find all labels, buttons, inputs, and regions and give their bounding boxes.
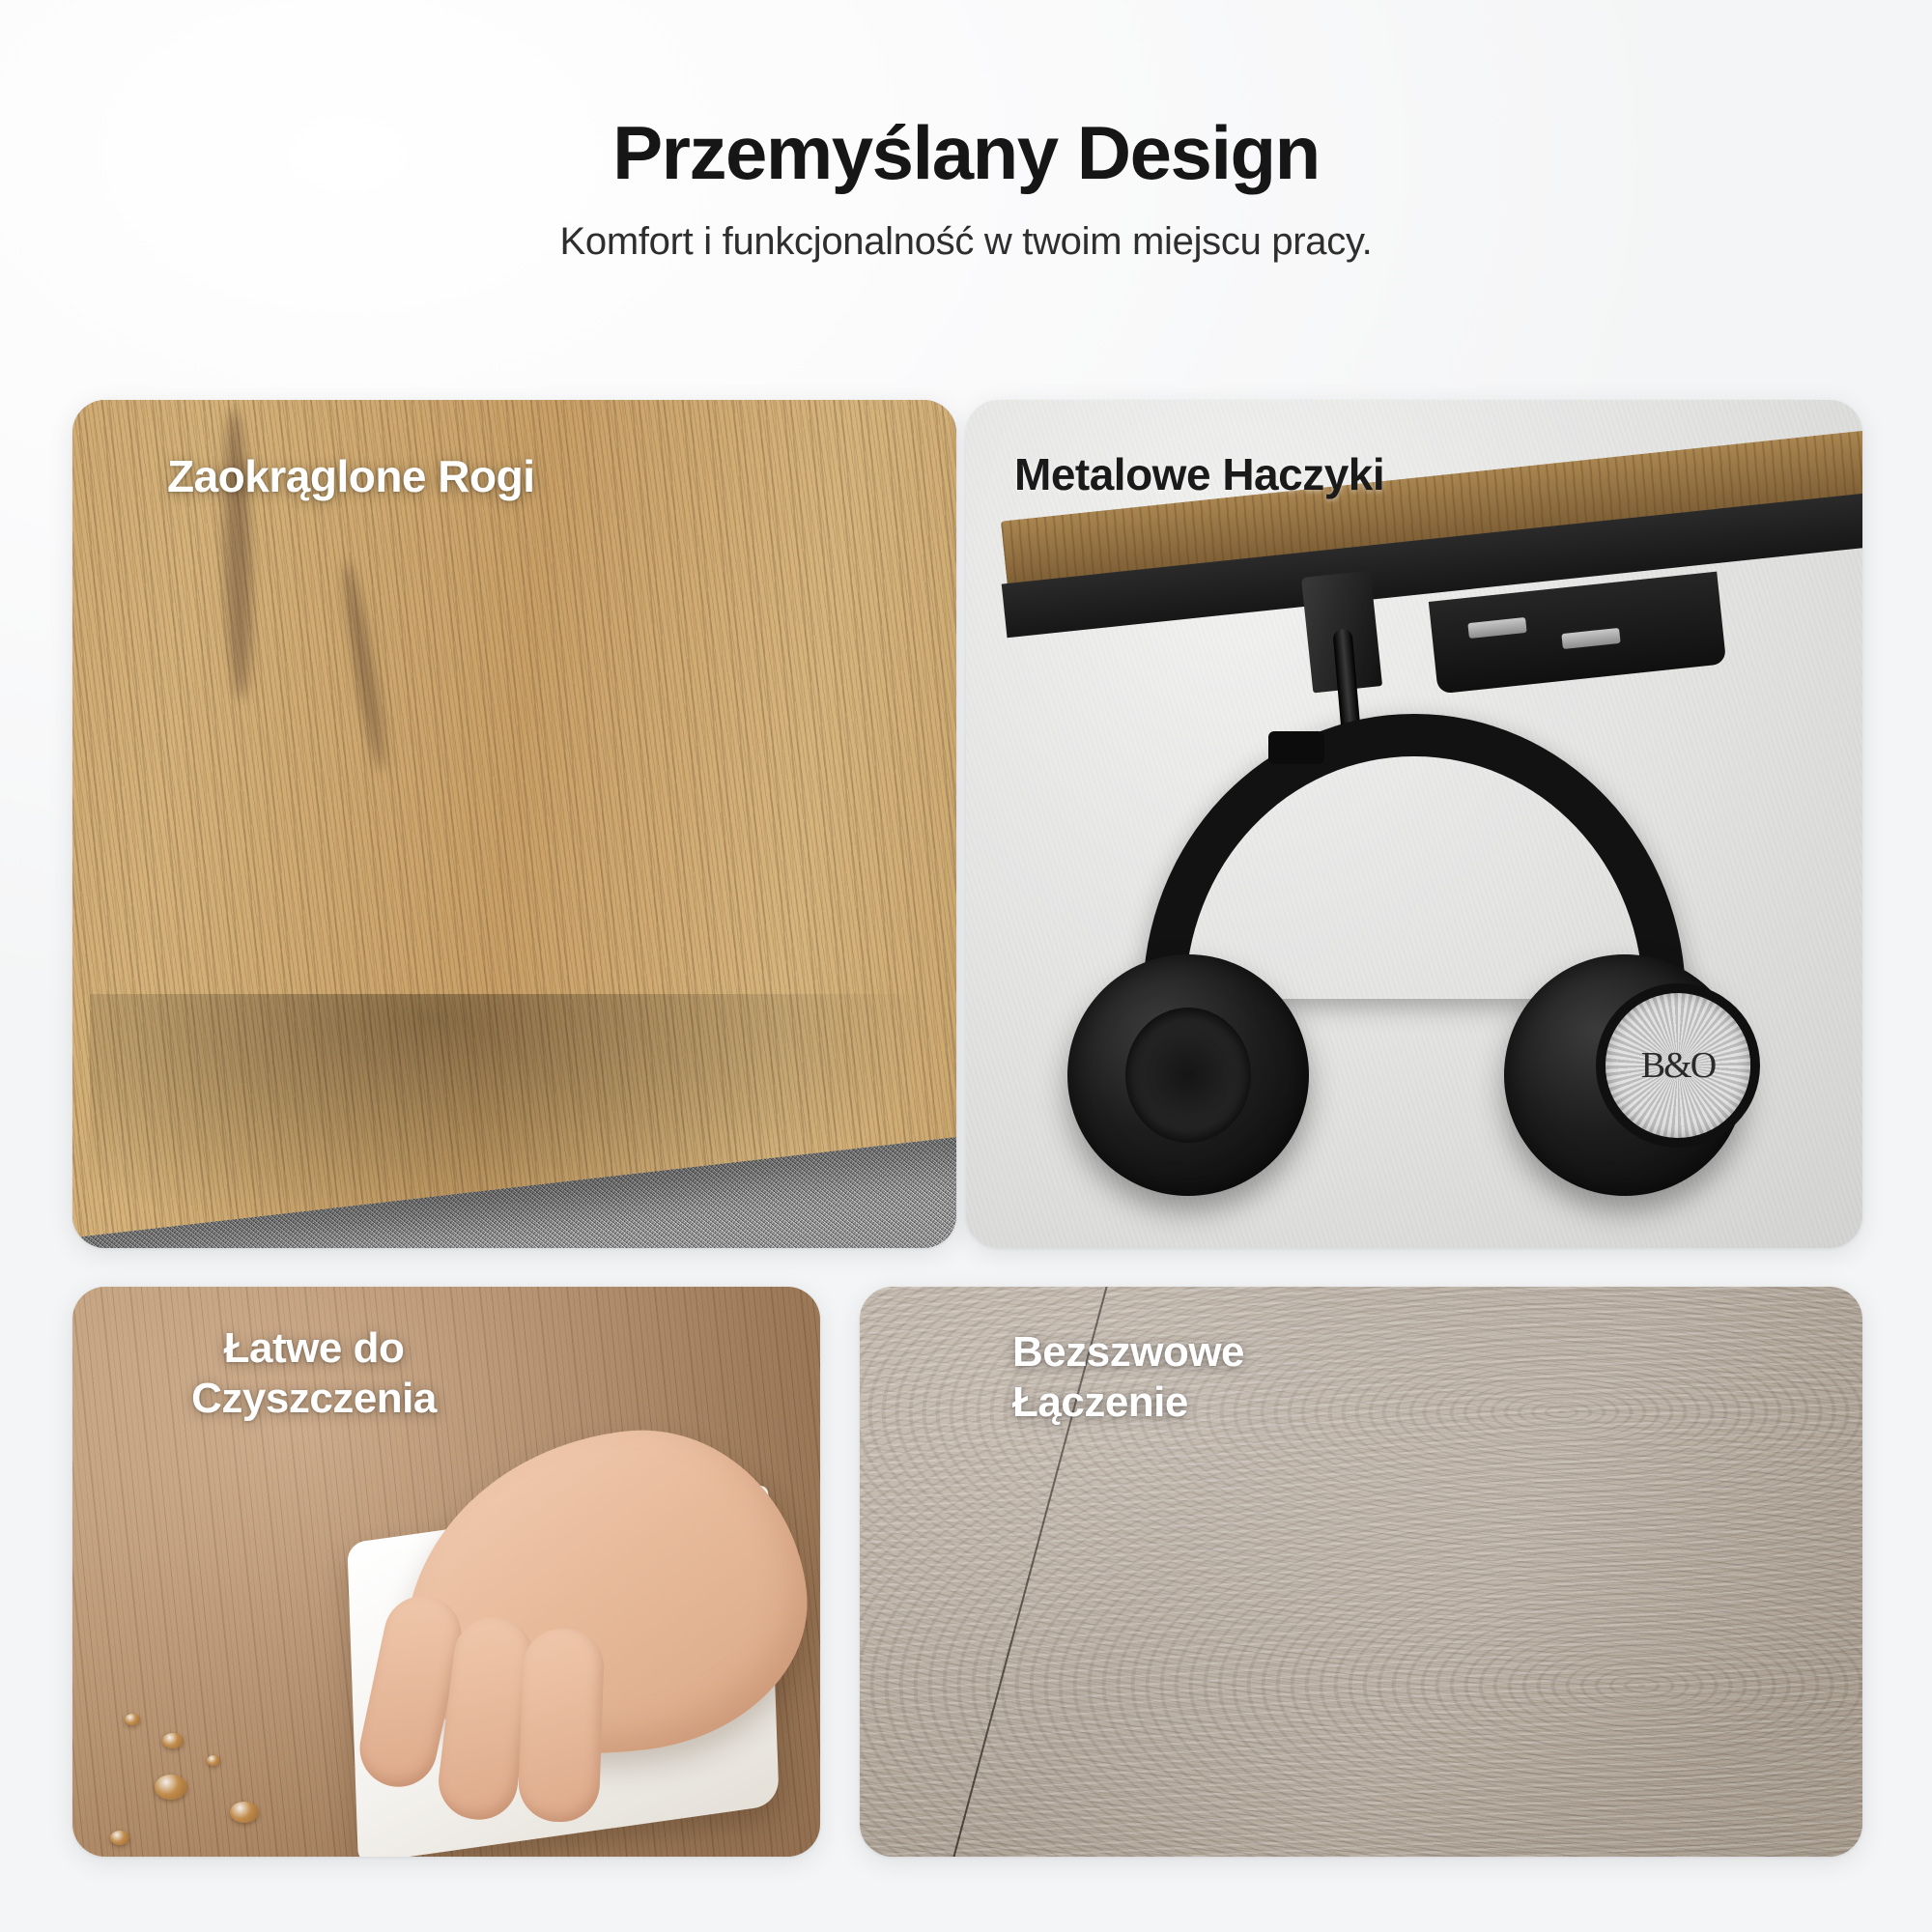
finger <box>518 1628 606 1824</box>
photo-gloss <box>860 1287 1862 1857</box>
liquid-droplet <box>162 1733 184 1748</box>
page-header: Przemyślany Design Komfort i funkcjonaln… <box>0 0 1932 264</box>
brand-logo-text: B&O <box>1641 1050 1715 1081</box>
card-label-rounded-corners: Zaokrąglone Rogi <box>167 450 534 502</box>
card-label-metal-hooks: Metalowe Haczyki <box>1014 448 1384 500</box>
wood-corner-photo <box>72 400 956 1248</box>
feature-card-grid: Zaokrąglone Rogi B&O Metalowe Haczyk <box>72 400 1862 1857</box>
headphone-earcup-left <box>1067 954 1309 1196</box>
liquid-droplet <box>230 1802 259 1823</box>
liquid-droplet <box>110 1831 129 1845</box>
liquid-droplet <box>207 1755 220 1766</box>
headphone-earcup-right: B&O <box>1504 954 1746 1196</box>
headphone-hook-photo: B&O <box>966 400 1862 1248</box>
page-subtitle: Komfort i funkcjonalność w twoim miejscu… <box>0 220 1932 264</box>
feature-card-metal-hooks[interactable]: B&O Metalowe Haczyki <box>966 400 1862 1248</box>
feature-card-easy-to-clean[interactable]: Łatwe do Czyszczenia <box>72 1287 820 1857</box>
headphone-logo-disc: B&O <box>1605 993 1750 1138</box>
liquid-droplet <box>155 1775 187 1800</box>
wood-grain-mark <box>338 559 390 772</box>
page-title: Przemyślany Design <box>0 114 1932 193</box>
headphones: B&O <box>1037 714 1791 1206</box>
feature-card-rounded-corners[interactable]: Zaokrąglone Rogi <box>72 400 956 1248</box>
feature-card-seamless-joint[interactable]: Bezszwowe Łączenie <box>860 1287 1862 1857</box>
drop-shadow <box>90 994 938 1248</box>
card-label-seamless-joint: Bezszwowe Łączenie <box>1012 1327 1244 1428</box>
card-label-easy-to-clean: Łatwe do Czyszczenia <box>130 1323 497 1424</box>
